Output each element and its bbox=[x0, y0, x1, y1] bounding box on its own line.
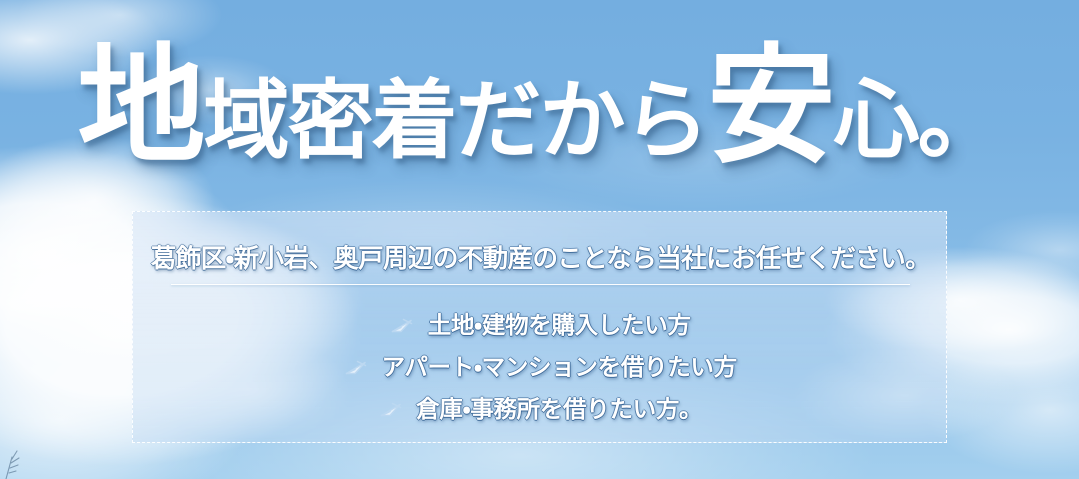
list-item[interactable]: 倉庫・事務所を借りたい方。 bbox=[133, 388, 948, 430]
paper-plane-icon bbox=[344, 360, 368, 376]
list-item[interactable]: アパート・マンションを借りたい方 bbox=[133, 346, 948, 388]
headline-segment-1: 地 bbox=[77, 36, 203, 178]
list-item-label: 土地・建物を購入したい方 bbox=[428, 312, 691, 338]
service-list: 土地・建物を購入したい方 アパート・マンションを借りたい方 bbox=[133, 304, 948, 430]
list-item-label: 倉庫・事務所を借りたい方。 bbox=[416, 396, 702, 422]
page-title: 地域密着だから安心。 bbox=[0, 43, 1079, 171]
list-item-label: アパート・マンションを借りたい方 bbox=[382, 354, 737, 380]
paper-plane-icon bbox=[390, 318, 414, 334]
headline-segment-2: 域密着だから bbox=[204, 73, 708, 169]
info-panel: 葛飾区・新小岩、奥戸周辺の不動産のことなら当社にお任せください。 土地・建物を購… bbox=[132, 211, 947, 443]
paper-plane-icon bbox=[379, 402, 403, 418]
hero-banner: 地域密着だから安心。 葛飾区・新小岩、奥戸周辺の不動産のことなら当社にお任せくだ… bbox=[0, 0, 1079, 479]
headline-segment-4: 心。 bbox=[834, 73, 1002, 169]
panel-divider bbox=[171, 284, 910, 285]
list-item[interactable]: 土地・建物を購入したい方 bbox=[133, 304, 948, 346]
panel-subtitle: 葛飾区・新小岩、奥戸周辺の不動産のことなら当社にお任せください。 bbox=[133, 238, 948, 275]
headline-segment-3: 安 bbox=[708, 36, 834, 178]
twig-icon bbox=[2, 439, 46, 479]
